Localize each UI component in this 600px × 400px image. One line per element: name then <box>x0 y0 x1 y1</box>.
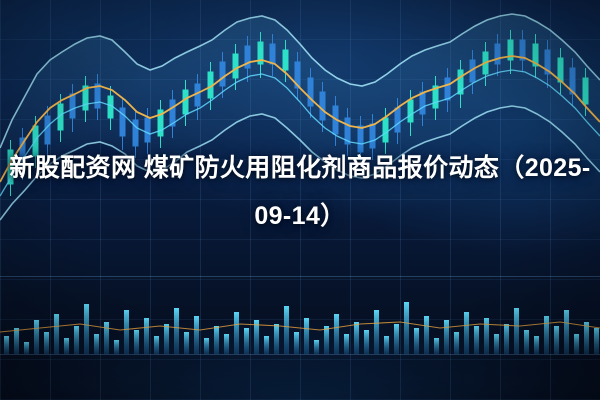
volume-ma-line <box>0 322 600 332</box>
panel-separator-top <box>0 276 600 277</box>
headline-line-1: 新股配资网 煤矿防火用阻化剂商品报价动态（2025- <box>0 148 600 188</box>
image-canvas: 新股配资网 煤矿防火用阻化剂商品报价动态（2025- 09-14） <box>0 0 600 400</box>
panel-separator-bottom <box>0 354 600 355</box>
headline-line-2: 09-14） <box>0 196 600 236</box>
